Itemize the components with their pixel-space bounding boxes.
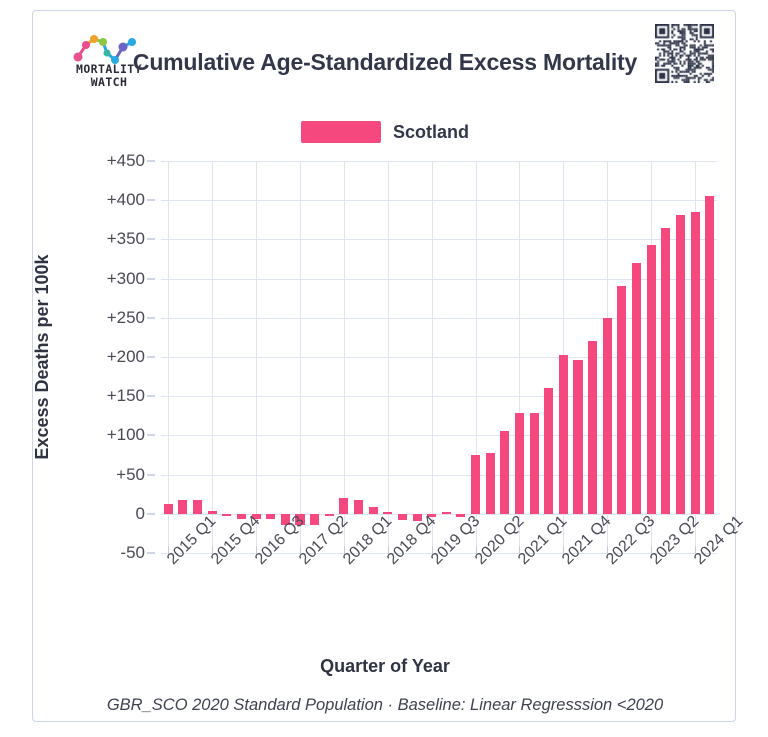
bar[interactable] <box>705 196 714 514</box>
bar[interactable] <box>691 212 700 514</box>
x-axis-title: Quarter of Year <box>33 656 737 677</box>
y-axis-tick-mark <box>147 356 155 358</box>
bar[interactable] <box>544 388 553 514</box>
bar[interactable] <box>222 514 231 516</box>
logo-wordmark-line2: WATCH <box>61 76 157 89</box>
bar[interactable] <box>339 498 348 514</box>
bar[interactable] <box>369 507 378 514</box>
plot-area <box>161 161 717 553</box>
y-axis-tick-mark <box>147 238 155 240</box>
bar[interactable] <box>632 263 641 514</box>
bar[interactable] <box>164 504 173 514</box>
bar[interactable] <box>573 360 582 514</box>
y-axis-tick-label: +450 <box>107 151 145 171</box>
legend-label-scotland: Scotland <box>393 122 469 143</box>
y-axis-tick-mark <box>147 513 155 515</box>
bar[interactable] <box>193 500 202 514</box>
chart-legend: Scotland <box>33 121 737 143</box>
y-axis-tick-label: -50 <box>120 543 145 563</box>
chart-footnote: GBR_SCO 2020 Standard Population · Basel… <box>33 696 737 715</box>
bar[interactable] <box>354 500 363 514</box>
bar[interactable] <box>603 318 612 514</box>
y-axis-tick-mark <box>147 199 155 201</box>
y-axis-tick-mark <box>147 474 155 476</box>
bar[interactable] <box>442 512 451 514</box>
y-axis-tick-label: +50 <box>116 465 145 485</box>
y-axis-tick-label: +350 <box>107 229 145 249</box>
bar[interactable] <box>661 228 670 514</box>
bar[interactable] <box>647 245 656 514</box>
y-axis-tick-label: +400 <box>107 190 145 210</box>
y-axis-tick-mark <box>147 160 155 162</box>
legend-swatch-scotland <box>301 121 381 143</box>
bar[interactable] <box>515 413 524 513</box>
y-axis-tick-label: +200 <box>107 347 145 367</box>
y-axis-tick-label: +150 <box>107 386 145 406</box>
bar[interactable] <box>500 431 509 513</box>
x-axis-labels: 2015 Q12015 Q42016 Q32017 Q22018 Q12018 … <box>161 556 717 651</box>
bar[interactable] <box>530 413 539 513</box>
bar[interactable] <box>266 514 275 519</box>
bar[interactable] <box>676 215 685 514</box>
y-axis-tick-mark <box>147 434 155 436</box>
y-axis-tick-mark <box>147 317 155 319</box>
bar[interactable] <box>588 341 597 514</box>
chart-card: MORTALITY WATCH Cumulative Age-Standardi… <box>32 10 736 722</box>
bar[interactable] <box>310 514 319 525</box>
y-axis-tick-label: +250 <box>107 308 145 328</box>
y-axis-tick-label: +100 <box>107 425 145 445</box>
qr-code[interactable] <box>652 21 717 86</box>
bar[interactable] <box>486 453 495 513</box>
y-axis-tick-mark <box>147 552 155 554</box>
y-axis-labels: -500+50+100+150+200+250+300+350+400+450 <box>51 161 155 553</box>
bar-series-scotland <box>161 161 717 553</box>
bar[interactable] <box>471 455 480 514</box>
page-title: Cumulative Age-Standardized Excess Morta… <box>33 49 737 76</box>
y-axis-tick-mark <box>147 278 155 280</box>
bar[interactable] <box>559 355 568 514</box>
bar[interactable] <box>178 500 187 514</box>
bar[interactable] <box>617 286 626 513</box>
bar[interactable] <box>456 514 465 517</box>
bar[interactable] <box>398 514 407 520</box>
bar[interactable] <box>325 514 334 516</box>
y-axis-tick-mark <box>147 395 155 397</box>
y-axis-tick-label: 0 <box>136 504 145 524</box>
y-axis-tick-label: +300 <box>107 269 145 289</box>
